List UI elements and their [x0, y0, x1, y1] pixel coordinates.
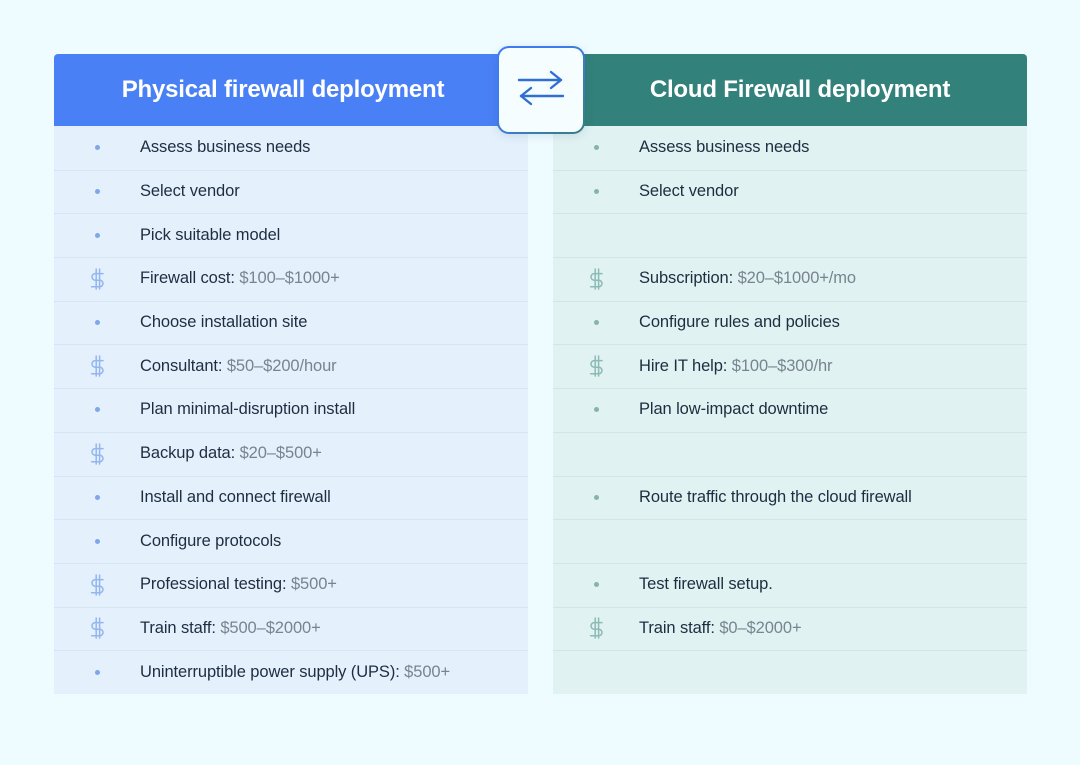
- table-row: Firewall cost: $100–$1000+: [54, 257, 528, 301]
- row-label: Pick suitable model: [140, 226, 280, 245]
- table-row: Train staff: $0–$2000+: [553, 607, 1027, 651]
- dollar-icon: [54, 355, 140, 377]
- table-row: Hire IT help: $100–$300/hr: [553, 344, 1027, 388]
- row-label-text: Select vendor: [639, 182, 739, 200]
- column-cloud-firewall: Cloud Firewall deployment Assess busines…: [553, 54, 1027, 708]
- dollar-icon: [54, 268, 140, 290]
- table-row: Choose installation site: [54, 301, 528, 345]
- bullet-icon: [54, 320, 140, 325]
- row-label: Train staff: $500–$2000+: [140, 619, 321, 638]
- row-label: Assess business needs: [140, 138, 310, 157]
- table-row: Configure rules and policies: [553, 301, 1027, 345]
- dollar-icon: [54, 443, 140, 465]
- bullet-icon: [54, 407, 140, 412]
- row-cost-value: $500+: [400, 663, 450, 681]
- row-cost-value: $0–$2000+: [715, 619, 802, 637]
- row-label-text: Hire IT help:: [639, 357, 727, 375]
- row-label-text: Pick suitable model: [140, 226, 280, 244]
- bullet-icon: [553, 495, 639, 500]
- dollar-icon: [54, 617, 140, 639]
- column-header-cloud: Cloud Firewall deployment: [553, 54, 1027, 126]
- table-row: Uninterruptible power supply (UPS): $500…: [54, 650, 528, 694]
- dollar-icon: [553, 268, 639, 290]
- column-physical-firewall: Physical firewall deployment Assess busi…: [54, 54, 528, 708]
- row-label: Configure protocols: [140, 532, 281, 551]
- table-row: Train staff: $500–$2000+: [54, 607, 528, 651]
- row-label: Select vendor: [639, 182, 739, 201]
- row-label-text: Subscription:: [639, 269, 733, 287]
- row-label-text: Backup data:: [140, 444, 235, 462]
- row-label: Select vendor: [140, 182, 240, 201]
- row-label-text: Train staff:: [140, 619, 216, 637]
- row-cost-value: $50–$200/hour: [222, 357, 336, 375]
- row-cost-value: $20–$500+: [235, 444, 322, 462]
- row-cost-value: $100–$1000+: [235, 269, 340, 287]
- row-label: Professional testing: $500+: [140, 575, 337, 594]
- row-label: Test firewall setup.: [639, 575, 773, 594]
- swap-badge-inner: [499, 48, 583, 132]
- table-row: [553, 519, 1027, 563]
- dollar-icon: [553, 355, 639, 377]
- row-label: Choose installation site: [140, 313, 307, 332]
- table-row: Plan low-impact downtime: [553, 388, 1027, 432]
- table-row: Select vendor: [54, 170, 528, 214]
- table-row: [553, 432, 1027, 476]
- table-row: Professional testing: $500+: [54, 563, 528, 607]
- dollar-icon: [553, 617, 639, 639]
- table-row: Subscription: $20–$1000+/mo: [553, 257, 1027, 301]
- dollar-icon: [54, 574, 140, 596]
- row-label: Plan minimal-disruption install: [140, 400, 355, 419]
- row-label-text: Professional testing:: [140, 575, 286, 593]
- row-label-text: Consultant:: [140, 357, 222, 375]
- row-label: Uninterruptible power supply (UPS): $500…: [140, 663, 450, 682]
- row-label: Backup data: $20–$500+: [140, 444, 322, 463]
- row-label-text: Assess business needs: [639, 138, 809, 156]
- column-header-cloud-title: Cloud Firewall deployment: [650, 76, 950, 104]
- table-row: Backup data: $20–$500+: [54, 432, 528, 476]
- row-label: Hire IT help: $100–$300/hr: [639, 357, 832, 376]
- row-label: Train staff: $0–$2000+: [639, 619, 801, 638]
- bullet-icon: [54, 495, 140, 500]
- table-row: Consultant: $50–$200/hour: [54, 344, 528, 388]
- row-label: Subscription: $20–$1000+/mo: [639, 269, 856, 288]
- column-body-cloud: Assess business needsSelect vendorSubscr…: [553, 126, 1027, 708]
- column-header-physical: Physical firewall deployment: [54, 54, 528, 126]
- comparison-board: Physical firewall deployment Assess busi…: [54, 54, 1026, 708]
- column-body-physical: Assess business needsSelect vendorPick s…: [54, 126, 528, 708]
- row-label-text: Configure protocols: [140, 532, 281, 550]
- table-row: Assess business needs: [54, 126, 528, 170]
- row-cost-value: $500–$2000+: [216, 619, 321, 637]
- row-label-text: Route traffic through the cloud firewall: [639, 488, 912, 506]
- row-label: Route traffic through the cloud firewall: [639, 488, 912, 507]
- bullet-icon: [54, 670, 140, 675]
- bullet-icon: [553, 407, 639, 412]
- row-label-text: Uninterruptible power supply (UPS):: [140, 663, 400, 681]
- table-row: Configure protocols: [54, 519, 528, 563]
- table-row: Pick suitable model: [54, 213, 528, 257]
- bullet-icon: [553, 320, 639, 325]
- row-label-text: Plan minimal-disruption install: [140, 400, 355, 418]
- row-label: Configure rules and policies: [639, 313, 840, 332]
- bullet-icon: [553, 145, 639, 150]
- bullet-icon: [553, 189, 639, 194]
- swap-columns-button[interactable]: [497, 46, 585, 134]
- bullet-icon: [54, 539, 140, 544]
- row-label-text: Select vendor: [140, 182, 240, 200]
- row-cost-value: $100–$300/hr: [727, 357, 832, 375]
- row-label-text: Train staff:: [639, 619, 715, 637]
- table-row: Plan minimal-disruption install: [54, 388, 528, 432]
- row-label: Plan low-impact downtime: [639, 400, 828, 419]
- row-label: Install and connect firewall: [140, 488, 331, 507]
- table-row: [553, 650, 1027, 694]
- bullet-icon: [54, 233, 140, 238]
- table-row: Install and connect firewall: [54, 476, 528, 520]
- table-row: Route traffic through the cloud firewall: [553, 476, 1027, 520]
- row-label: Consultant: $50–$200/hour: [140, 357, 337, 376]
- swap-horizontal-icon: [513, 66, 569, 115]
- table-row: [553, 213, 1027, 257]
- row-label: Assess business needs: [639, 138, 809, 157]
- row-label-text: Choose installation site: [140, 313, 307, 331]
- row-cost-value: $20–$1000+/mo: [733, 269, 856, 287]
- table-row: Test firewall setup.: [553, 563, 1027, 607]
- bullet-icon: [553, 582, 639, 587]
- row-label-text: Plan low-impact downtime: [639, 400, 828, 418]
- table-row: Select vendor: [553, 170, 1027, 214]
- bullet-icon: [54, 189, 140, 194]
- row-label-text: Test firewall setup.: [639, 575, 773, 593]
- row-label: Firewall cost: $100–$1000+: [140, 269, 340, 288]
- row-label-text: Configure rules and policies: [639, 313, 840, 331]
- bullet-icon: [54, 145, 140, 150]
- row-label-text: Firewall cost:: [140, 269, 235, 287]
- row-label-text: Install and connect firewall: [140, 488, 331, 506]
- column-header-physical-title: Physical firewall deployment: [122, 76, 445, 104]
- table-row: Assess business needs: [553, 126, 1027, 170]
- row-label-text: Assess business needs: [140, 138, 310, 156]
- row-cost-value: $500+: [286, 575, 336, 593]
